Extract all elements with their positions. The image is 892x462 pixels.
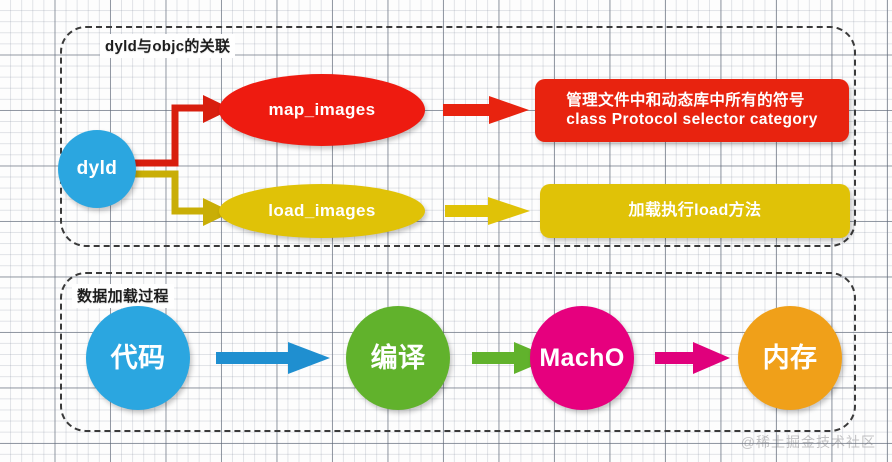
node-macho-label: MachO [539,343,624,374]
node-memory-label: 内存 [763,342,818,375]
node-map-images[interactable]: map_images [219,74,425,146]
node-load-images-label: load_images [268,201,375,222]
box-symbol-management[interactable]: 管理文件中和动态库中所有的符号 class Protocol selector … [535,79,849,142]
node-code[interactable]: 代码 [86,306,190,410]
diagram-canvas: dyld与objc的关联 数据加载过程 [0,0,892,462]
node-code-label: 代码 [111,342,166,375]
group-label-data-loading: 数据加载过程 [72,284,174,308]
node-compile[interactable]: 编译 [346,306,450,410]
box-load-method-label: 加载执行load方法 [629,201,762,221]
node-dyld[interactable]: dyld [58,130,136,208]
node-compile-label: 编译 [371,342,426,375]
node-map-images-label: map_images [269,100,376,121]
node-macho[interactable]: MachO [530,306,634,410]
box-symbol-management-line2: class Protocol selector category [566,111,817,128]
box-symbol-management-text: 管理文件中和动态库中所有的符号 class Protocol selector … [566,92,817,130]
node-memory[interactable]: 内存 [738,306,842,410]
box-load-method[interactable]: 加载执行load方法 [540,184,850,238]
box-symbol-management-line1: 管理文件中和动态库中所有的符号 [566,92,805,109]
watermark: @稀土掘金技术社区 [741,432,876,452]
node-load-images[interactable]: load_images [219,184,425,238]
group-label-dyld-objc: dyld与objc的关联 [100,34,235,58]
node-dyld-label: dyld [77,157,118,180]
